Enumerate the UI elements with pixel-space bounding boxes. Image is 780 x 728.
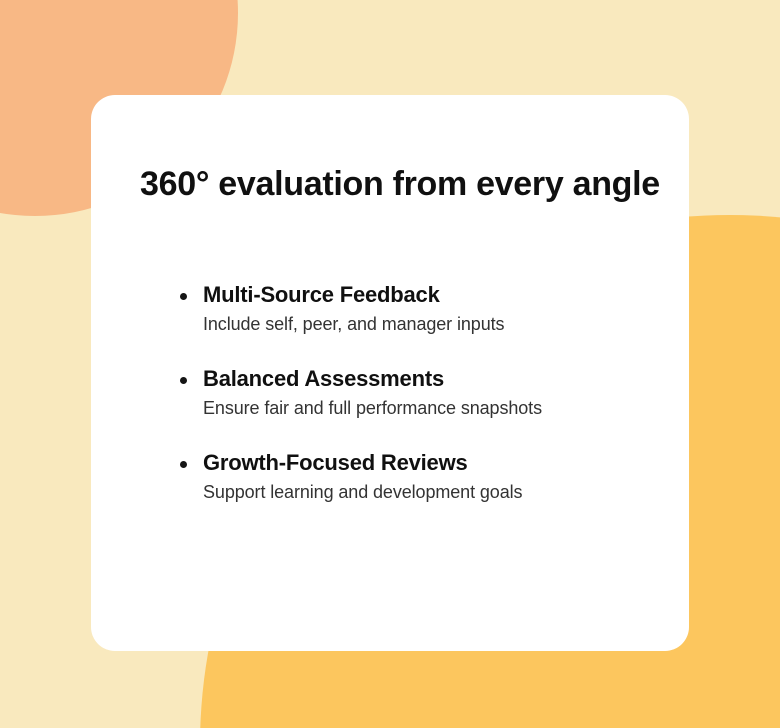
list-item: Growth-Focused Reviews Support learning … [175, 449, 645, 504]
content-card: 360° evaluation from every angle Multi-S… [91, 95, 689, 651]
list-item-description: Include self, peer, and manager inputs [203, 312, 645, 336]
feature-bullet-list: Multi-Source Feedback Include self, peer… [175, 281, 645, 504]
slide-canvas: 360° evaluation from every angle Multi-S… [0, 0, 780, 728]
list-item-heading: Multi-Source Feedback [203, 281, 645, 309]
bullet-dot-icon [180, 293, 187, 300]
list-item-description: Support learning and development goals [203, 480, 645, 504]
bullet-dot-icon [180, 461, 187, 468]
list-item-heading: Balanced Assessments [203, 365, 645, 393]
page-title: 360° evaluation from every angle [140, 163, 660, 205]
list-item-description: Ensure fair and full performance snapsho… [203, 396, 645, 420]
list-item: Balanced Assessments Ensure fair and ful… [175, 365, 645, 420]
list-item-heading: Growth-Focused Reviews [203, 449, 645, 477]
bullet-dot-icon [180, 377, 187, 384]
list-item: Multi-Source Feedback Include self, peer… [175, 281, 645, 336]
